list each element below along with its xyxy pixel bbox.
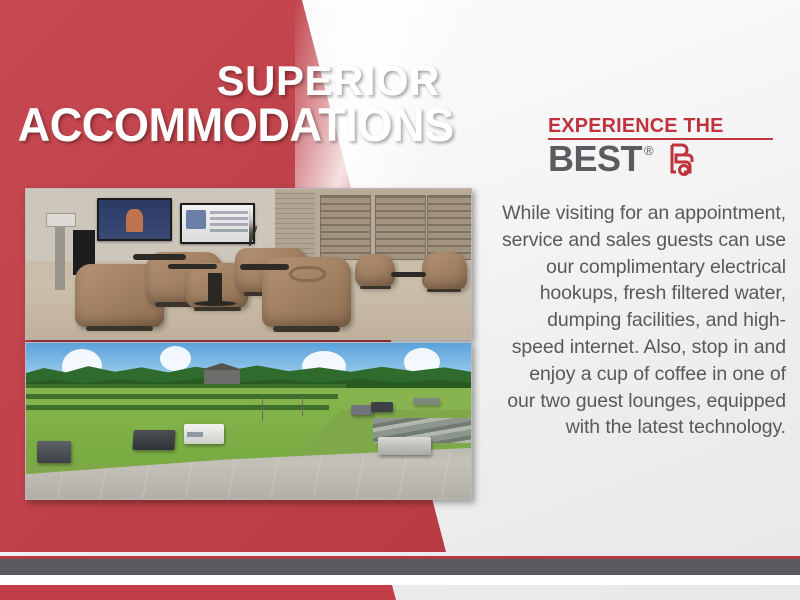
logo-wordmark: BEST <box>548 141 642 177</box>
hedge-row <box>26 405 329 410</box>
television-icon <box>180 203 255 245</box>
side-table <box>133 254 186 260</box>
display-shelf <box>427 195 473 260</box>
bottom-red-bar <box>0 585 800 600</box>
rv-camper-icon <box>660 142 700 181</box>
lounge-scene <box>26 189 471 339</box>
lot-scene <box>26 343 471 499</box>
parked-car <box>371 402 393 411</box>
rv-vehicle <box>37 441 70 463</box>
logo-tagline: EXPERIENCE THE <box>548 116 778 136</box>
rv-vehicle <box>184 424 224 444</box>
headline-line-1: SUPERIOR <box>0 60 440 101</box>
poster-canvas: SUPERIOR ACCOMMODATIONS <box>0 0 800 600</box>
cloud-icon <box>160 346 191 371</box>
lounge-chair <box>422 252 467 290</box>
bottom-gray-bar <box>0 559 800 575</box>
registered-trademark-icon: ® <box>644 144 654 157</box>
hedge-row <box>26 394 338 399</box>
television-icon <box>97 198 172 241</box>
experience-the-best-logo: EXPERIENCE THE BEST ® <box>548 116 780 181</box>
guest-lounge-photo <box>25 188 472 340</box>
display-shelf <box>320 195 371 260</box>
side-table <box>168 264 217 269</box>
rv-parking-lot-photo <box>25 342 472 500</box>
rv-vehicle <box>132 430 176 450</box>
side-table <box>391 272 427 277</box>
plant-icon <box>249 207 267 246</box>
chair-handle <box>289 266 326 283</box>
light-pole-icon <box>262 399 263 421</box>
hedge-row <box>26 384 346 389</box>
pedestal-table <box>208 273 221 306</box>
light-pole-icon <box>302 396 303 416</box>
rv-vehicle <box>378 437 431 456</box>
display-shelf <box>375 195 426 260</box>
parked-car <box>413 398 440 405</box>
sanitizer-stand-icon <box>55 222 65 290</box>
headline-line-2: ACCOMMODATIONS <box>18 101 440 149</box>
page-title: SUPERIOR ACCOMMODATIONS <box>0 60 448 149</box>
side-table <box>240 264 289 270</box>
parked-car <box>351 405 373 414</box>
bottom-white-bar <box>0 575 800 585</box>
body-paragraph: While visiting for an appointment, servi… <box>498 200 786 441</box>
lounge-chair <box>355 254 395 287</box>
